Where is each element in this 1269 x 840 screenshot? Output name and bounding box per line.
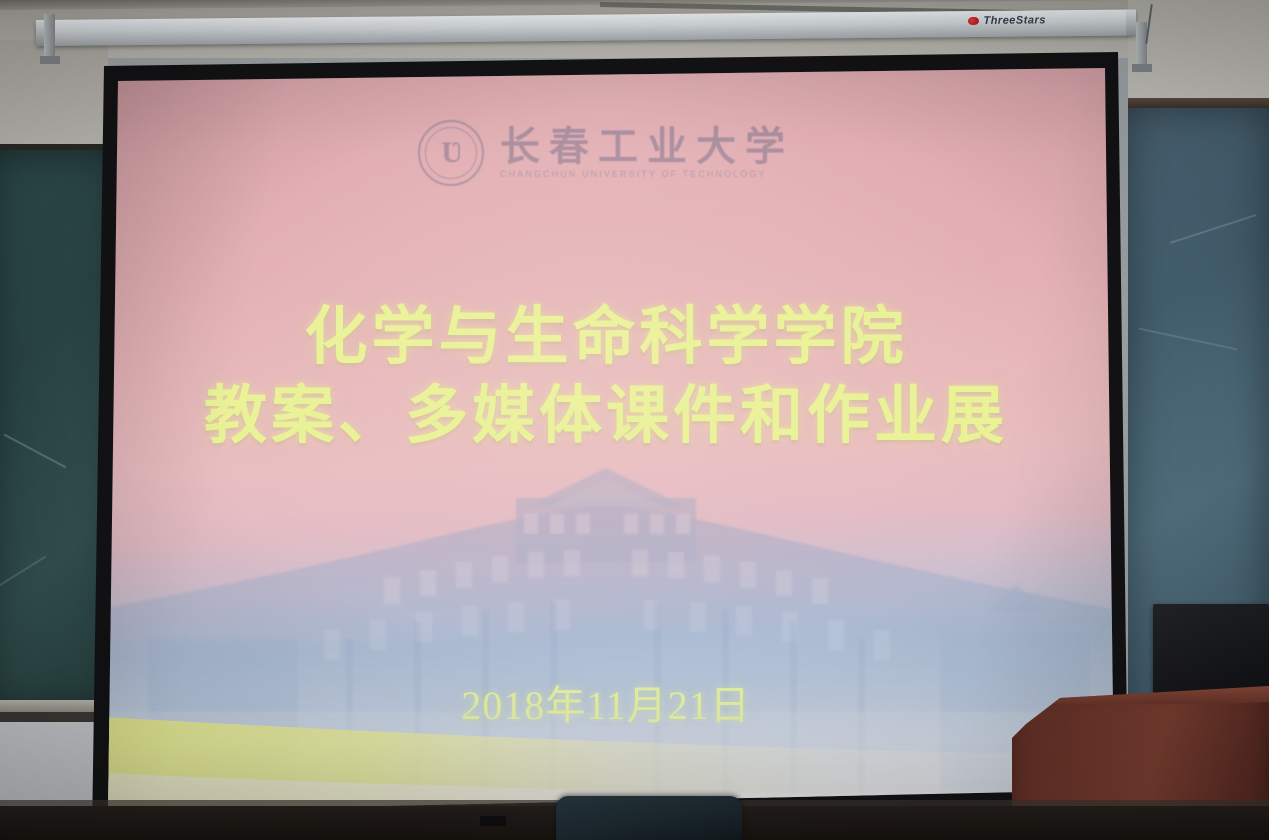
screen-brand: ThreeStars <box>967 14 1046 27</box>
presentation-slide: Ʋ 长春工业大学 CHANGCHUN UNIVERSITY OF TECHNOL… <box>84 46 1128 836</box>
chalk-smudge <box>4 434 67 469</box>
slide-title-line-1: 化学与生命科学学院 <box>84 298 1128 377</box>
chalk-smudge <box>0 556 46 587</box>
roller-cap-right <box>1126 9 1136 35</box>
classroom-chair[interactable] <box>556 796 742 840</box>
seal-glyph: Ʋ <box>441 138 461 168</box>
roller-bracket-foot-left <box>40 56 60 64</box>
university-name-en: CHANGCHUN UNIVERSITY OF TECHNOLOGY <box>500 169 794 179</box>
slide-date: 2018年11月21日 <box>84 673 1128 731</box>
threestars-logo-mark <box>967 17 978 25</box>
university-logo: Ʋ 长春工业大学 CHANGCHUN UNIVERSITY OF TECHNOL… <box>84 120 1128 186</box>
university-seal-icon: Ʋ <box>418 120 484 186</box>
screen-brand-label: ThreeStars <box>983 14 1046 27</box>
slide-title: 化学与生命科学学院 教案、多媒体课件和作业展 <box>84 298 1128 457</box>
classroom-photo: ThreeStars <box>0 0 1269 840</box>
roller-bracket-foot-right <box>1132 64 1152 72</box>
slide-title-line-2: 教案、多媒体课件和作业展 <box>84 377 1128 456</box>
chalk-smudge <box>1170 214 1256 244</box>
university-name-block: 长春工业大学 CHANGCHUN UNIVERSITY OF TECHNOLOG… <box>500 127 794 179</box>
university-name-cn: 长春工业大学 <box>500 127 794 167</box>
roller-bracket-right <box>1136 22 1147 66</box>
desktop-monitor[interactable] <box>1153 604 1269 700</box>
roller-bracket-left <box>44 14 55 58</box>
projection-screen-surface[interactable]: Ʋ 长春工业大学 CHANGCHUN UNIVERSITY OF TECHNOL… <box>84 46 1128 836</box>
chalk-smudge <box>1139 328 1237 351</box>
campus-building-silhouette <box>84 462 1128 792</box>
screen-bottom-weight <box>480 816 506 826</box>
